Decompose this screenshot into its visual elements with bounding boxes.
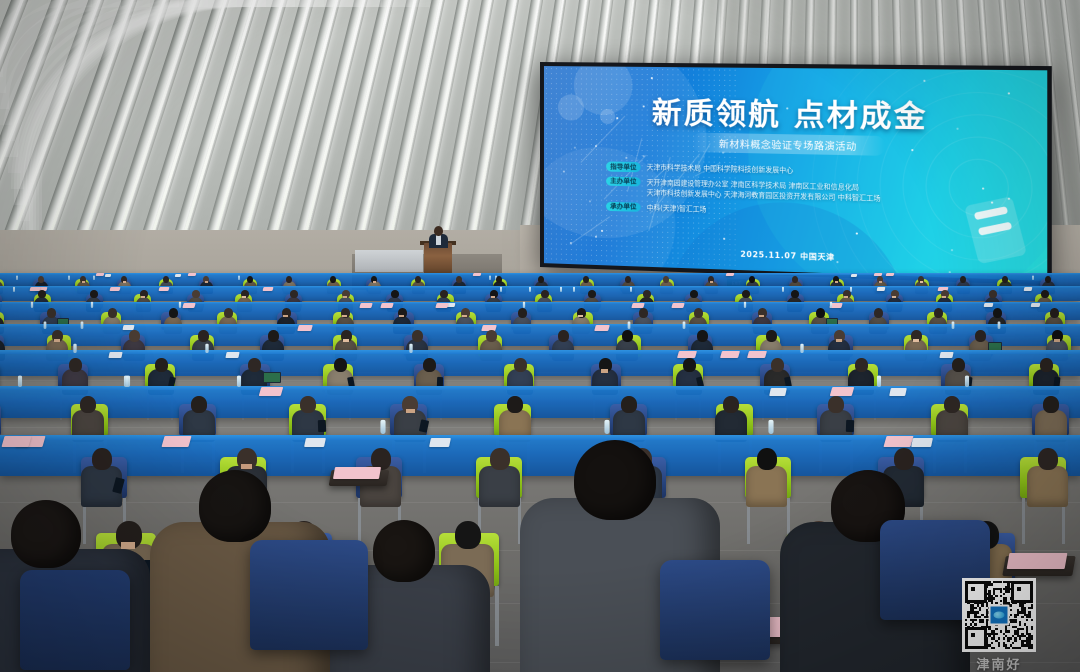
handout-paper [851, 274, 858, 277]
head-table [355, 250, 423, 272]
water-bottle [1032, 276, 1034, 280]
person-head [1050, 308, 1059, 318]
water-bottle [573, 287, 575, 292]
water-bottle [768, 420, 773, 434]
handout-paper [297, 325, 313, 331]
handout-paper [435, 303, 448, 308]
person-head [199, 470, 271, 542]
handout-paper [769, 388, 787, 396]
handout-paper [877, 287, 886, 291]
screen-sparkle [1008, 92, 1010, 94]
person-head [583, 276, 589, 283]
qr-module [977, 611, 979, 613]
qr-module [974, 619, 976, 621]
water-bottle [560, 287, 562, 292]
organizer-text: 中科(天津)智汇工场 [647, 203, 707, 215]
qr-module [1017, 614, 1019, 616]
qr-module [1031, 619, 1033, 621]
person-head [440, 290, 448, 298]
person-head [791, 290, 799, 298]
qr-module [1014, 621, 1016, 623]
handout-paper [889, 388, 907, 396]
qr-module [991, 642, 993, 644]
qr-module [981, 604, 983, 606]
person-head [1038, 448, 1058, 470]
conference-table [0, 386, 1080, 418]
screen-sparkle [625, 157, 627, 159]
qr-module [974, 623, 976, 625]
handout-paper [911, 438, 933, 447]
screen-sparkle [836, 261, 838, 263]
person-head [412, 330, 423, 342]
person-neck [710, 281, 713, 283]
water-bottle [877, 376, 881, 387]
person-head [496, 276, 502, 283]
person-head [11, 500, 81, 568]
speaker-shirt [436, 235, 441, 245]
qr-module [1007, 590, 1009, 592]
water-bottle [630, 287, 632, 292]
handout-paper [671, 303, 684, 308]
handout-paper [677, 351, 697, 358]
conference-hall-photo: EXIT 新质领航 点材成金 新材料概念验证专场路演活动 指导单位 天津市科学技… [0, 0, 1080, 672]
person-head [456, 276, 462, 283]
person-head [155, 358, 168, 372]
water-bottle [782, 287, 784, 292]
person-head [574, 440, 656, 520]
person-head [169, 308, 178, 318]
person-head [423, 358, 436, 372]
person-neck [1054, 339, 1060, 342]
qr-finder-pattern [965, 627, 987, 649]
qr-module [1007, 630, 1009, 632]
qr-module [1003, 637, 1005, 639]
handout-paper [830, 387, 855, 396]
person-head [588, 290, 596, 298]
screen-sparkle [601, 230, 603, 232]
person-head [828, 396, 844, 413]
person-head [742, 290, 750, 298]
person-head [894, 448, 914, 470]
water-bottle [830, 302, 832, 308]
qr-module [991, 583, 993, 585]
person-head [1040, 358, 1053, 372]
person-neck [342, 315, 347, 317]
person-neck [123, 281, 126, 283]
water-bottle [744, 302, 746, 308]
water-bottle [237, 376, 241, 387]
table-top-edge [0, 324, 1080, 327]
handout-paper [262, 287, 273, 291]
person-head [300, 396, 316, 413]
table-top-edge [0, 273, 1080, 275]
organizer-tag: 承办单位 [606, 201, 641, 212]
person-head [723, 396, 739, 413]
person-neck [82, 281, 85, 283]
person-head [639, 308, 648, 318]
person-head [643, 290, 651, 298]
person-head [944, 396, 960, 413]
qr-module [998, 637, 1000, 639]
person-neck [54, 339, 60, 342]
person-head [247, 276, 253, 283]
screen-sparkle [856, 232, 858, 234]
person-head [518, 308, 527, 318]
organizer-text: 天开津南园建设管理办公室 津南区科学技术局 津南区工业和信息化局 天津市科技创新… [647, 177, 881, 204]
person-head [38, 276, 44, 283]
chair-back [20, 570, 130, 670]
person-head [1041, 290, 1049, 298]
water-bottle [604, 420, 609, 434]
led-screen: 新质领航 点材成金 新材料概念验证专场路演活动 指导单位 天津市科学技术局 中国… [544, 66, 1047, 281]
qr-finder-pattern [1011, 581, 1033, 603]
water-bottle [409, 344, 412, 353]
table-top-edge [0, 386, 1080, 390]
person-neck [879, 281, 882, 283]
person-head [108, 308, 117, 318]
person-head [80, 396, 96, 413]
person-head [757, 448, 777, 470]
water-bottle [93, 276, 95, 280]
qr-module [1010, 637, 1012, 639]
screen-organizer-list: 指导单位 天津市科学技术局 中国科学院科技创新发展中心 主办单位 天开津南园建设… [606, 161, 1000, 227]
screen-sparkle [923, 80, 925, 82]
person-head [538, 276, 544, 283]
person-torso [479, 466, 520, 507]
water-bottle [238, 276, 240, 280]
handout-paper [594, 325, 610, 331]
person-head [514, 358, 527, 372]
water-bottle [124, 376, 128, 387]
screen-blob [600, 109, 615, 124]
qr-module [993, 647, 995, 649]
audience-member [1027, 448, 1068, 508]
water-bottle [800, 344, 803, 353]
handout-paper [225, 352, 239, 358]
person-head [192, 290, 200, 298]
handout-paper [1007, 553, 1068, 569]
person-head [248, 358, 261, 372]
qr-module [993, 597, 995, 599]
floor-tile-line [0, 427, 1080, 428]
qr-module [1010, 609, 1012, 611]
table-top-edge [0, 350, 1080, 354]
person-head [38, 290, 46, 298]
person-head [490, 448, 510, 470]
handout-paper [720, 351, 740, 358]
handout-paper [108, 352, 122, 358]
chair-back [660, 560, 770, 660]
qr-module [995, 628, 997, 630]
smartphone [846, 420, 854, 432]
screen-sparkle [651, 77, 653, 79]
screen-sparkle [574, 147, 576, 149]
person-head [558, 330, 569, 342]
qr-module [1031, 637, 1033, 639]
water-bottle [529, 287, 531, 292]
handout-paper [105, 274, 112, 277]
water-bottle [81, 322, 84, 329]
person-neck [399, 315, 404, 317]
watermark-text: 津南好 [962, 654, 1036, 672]
person-head [373, 520, 435, 582]
screen-sparkle [911, 149, 913, 151]
watermark-block: 津南好 [962, 578, 1046, 666]
qr-module [1031, 647, 1033, 649]
water-bottle [44, 322, 47, 329]
qr-module [981, 621, 983, 623]
qr-module [1019, 647, 1021, 649]
person-neck [205, 281, 208, 283]
water-bottle [68, 276, 70, 280]
handout-paper [429, 438, 451, 447]
handout-paper [883, 436, 913, 447]
handout-paper [333, 467, 381, 479]
person-head [683, 358, 696, 372]
handout-paper [726, 273, 735, 276]
water-bottle [16, 276, 18, 280]
qr-module [1014, 640, 1016, 642]
person-head [90, 290, 98, 298]
table-top-edge [0, 302, 1080, 304]
chair [0, 404, 1, 436]
water-bottle [13, 287, 15, 292]
qr-module [1031, 628, 1033, 630]
speaker-head [434, 226, 443, 236]
handout-paper [984, 303, 994, 307]
person-head [541, 290, 549, 298]
handout-paper [188, 273, 197, 276]
person-head [622, 330, 633, 342]
qr-code [962, 578, 1036, 652]
person-head [993, 308, 1002, 318]
qr-module [1031, 607, 1033, 609]
qr-module [1026, 619, 1028, 621]
person-head [415, 276, 421, 283]
handout-paper [747, 351, 767, 358]
person-head [952, 358, 965, 372]
person-head [625, 276, 631, 283]
person-head [69, 358, 82, 372]
person-head [1045, 276, 1051, 283]
qr-module [1010, 604, 1012, 606]
person-head [855, 358, 868, 372]
water-bottle [683, 322, 686, 329]
water-bottle [952, 322, 955, 329]
led-screen-frame: 新质领航 点材成金 新材料概念验证专场路演活动 指导单位 天津市科学技术局 中国… [540, 62, 1052, 285]
water-bottle [628, 322, 631, 329]
person-head [334, 358, 347, 372]
person-neck [462, 315, 467, 317]
person-neck [835, 281, 838, 283]
person-head [989, 290, 997, 298]
qr-module [1021, 628, 1023, 630]
handout-paper [161, 436, 191, 447]
screen-sparkle [616, 117, 618, 119]
person-head [129, 330, 140, 342]
person-head [268, 330, 279, 342]
person-head [1002, 276, 1008, 283]
person-neck [942, 296, 946, 298]
person-head [330, 276, 336, 283]
person-head [92, 448, 112, 470]
person-neck [844, 296, 848, 298]
person-head [1043, 396, 1059, 413]
handout-paper [359, 303, 372, 308]
handout-paper [1, 436, 31, 447]
handout-paper [1024, 287, 1033, 291]
water-bottle [73, 344, 76, 353]
handout-paper [158, 287, 169, 291]
handout-paper [96, 273, 105, 276]
person-head [975, 330, 986, 342]
qr-module [979, 609, 981, 611]
person-neck [343, 296, 347, 298]
handout-paper [473, 273, 482, 276]
water-bottle [18, 376, 22, 387]
person-head [766, 330, 777, 342]
organizer-tag: 指导单位 [606, 161, 641, 172]
water-bottle [91, 302, 93, 308]
person-head [792, 276, 798, 283]
person-neck [373, 281, 376, 283]
handout-paper [380, 303, 393, 308]
qr-center-logo [989, 605, 1010, 626]
qr-module [1012, 642, 1014, 644]
person-head [960, 276, 966, 283]
person-head [694, 308, 703, 318]
qr-finder-pattern [965, 581, 987, 603]
person-head [391, 290, 399, 298]
handout-paper [109, 287, 120, 291]
person-neck [759, 315, 764, 317]
person-neck [491, 296, 495, 298]
person-neck [892, 296, 896, 298]
person-neck [241, 464, 252, 469]
person-head [816, 308, 825, 318]
screen-sparkle [595, 236, 597, 238]
qr-module [1021, 616, 1023, 618]
smartphone [318, 420, 326, 432]
screen-sparkle [563, 171, 565, 173]
chair-back [250, 540, 368, 650]
person-head [224, 308, 233, 318]
screen-subtitle: 新材料概念验证专场路演活动 [692, 133, 885, 156]
handout-paper [175, 274, 182, 277]
qr-module [1007, 647, 1009, 649]
handout-paper [304, 438, 326, 447]
screen-sparkle [643, 105, 645, 107]
audience-member [479, 448, 520, 508]
screen-blob [558, 94, 584, 120]
qr-module [995, 633, 997, 635]
person-head [690, 290, 698, 298]
qr-module [1010, 614, 1012, 616]
person-neck [141, 296, 145, 298]
screen-sparkle [951, 249, 953, 251]
person-head [163, 276, 169, 283]
person-neck [920, 281, 923, 283]
person-head [286, 276, 292, 283]
water-bottle [998, 322, 1001, 329]
person-head [697, 330, 708, 342]
person-head [663, 276, 669, 283]
person-head [771, 358, 784, 372]
person-neck [406, 409, 415, 413]
organizer-text: 天津市科学技术局 中国科学院科技创新发展中心 [647, 162, 793, 176]
person-head [507, 396, 523, 413]
screen-sparkle [723, 238, 725, 240]
person-neck [836, 339, 842, 342]
person-neck [242, 296, 246, 298]
person-head [486, 330, 497, 342]
laptop [263, 372, 281, 383]
chair-back [0, 404, 1, 436]
person-head [47, 308, 56, 318]
person-head [934, 308, 943, 318]
person-neck [601, 369, 608, 373]
qr-module [974, 607, 976, 609]
qr-module [1019, 623, 1021, 625]
person-head [621, 396, 637, 413]
laptop-screen [264, 373, 280, 382]
water-bottle [489, 276, 491, 280]
person-head [191, 396, 207, 413]
person-neck [343, 339, 349, 342]
chair-leg [1022, 498, 1025, 544]
handout-paper [259, 387, 284, 396]
person-head [874, 308, 883, 318]
person-neck [283, 315, 288, 317]
qr-module [1007, 640, 1009, 642]
qr-module [998, 644, 1000, 646]
qr-module [965, 619, 967, 621]
screen-sparkle [956, 128, 958, 130]
qr-module [995, 595, 997, 597]
person-neck [913, 339, 919, 342]
water-bottle [965, 376, 969, 387]
screen-sparkle [589, 200, 591, 202]
chair-leg [495, 586, 499, 646]
person-head [198, 330, 209, 342]
person-neck [578, 315, 583, 317]
organizer-tag: 主办单位 [606, 176, 641, 187]
person-head [290, 290, 298, 298]
water-bottle [31, 302, 33, 308]
laptop-screen [989, 343, 1001, 350]
screen-title: 新质领航 点材成金 [652, 89, 928, 136]
water-bottle [205, 344, 208, 353]
water-bottle [380, 420, 385, 434]
person-head [749, 276, 755, 283]
qr-module [1003, 593, 1005, 595]
person-torso [1027, 466, 1068, 507]
handout-paper [182, 303, 195, 308]
handout-paper [1031, 303, 1041, 307]
